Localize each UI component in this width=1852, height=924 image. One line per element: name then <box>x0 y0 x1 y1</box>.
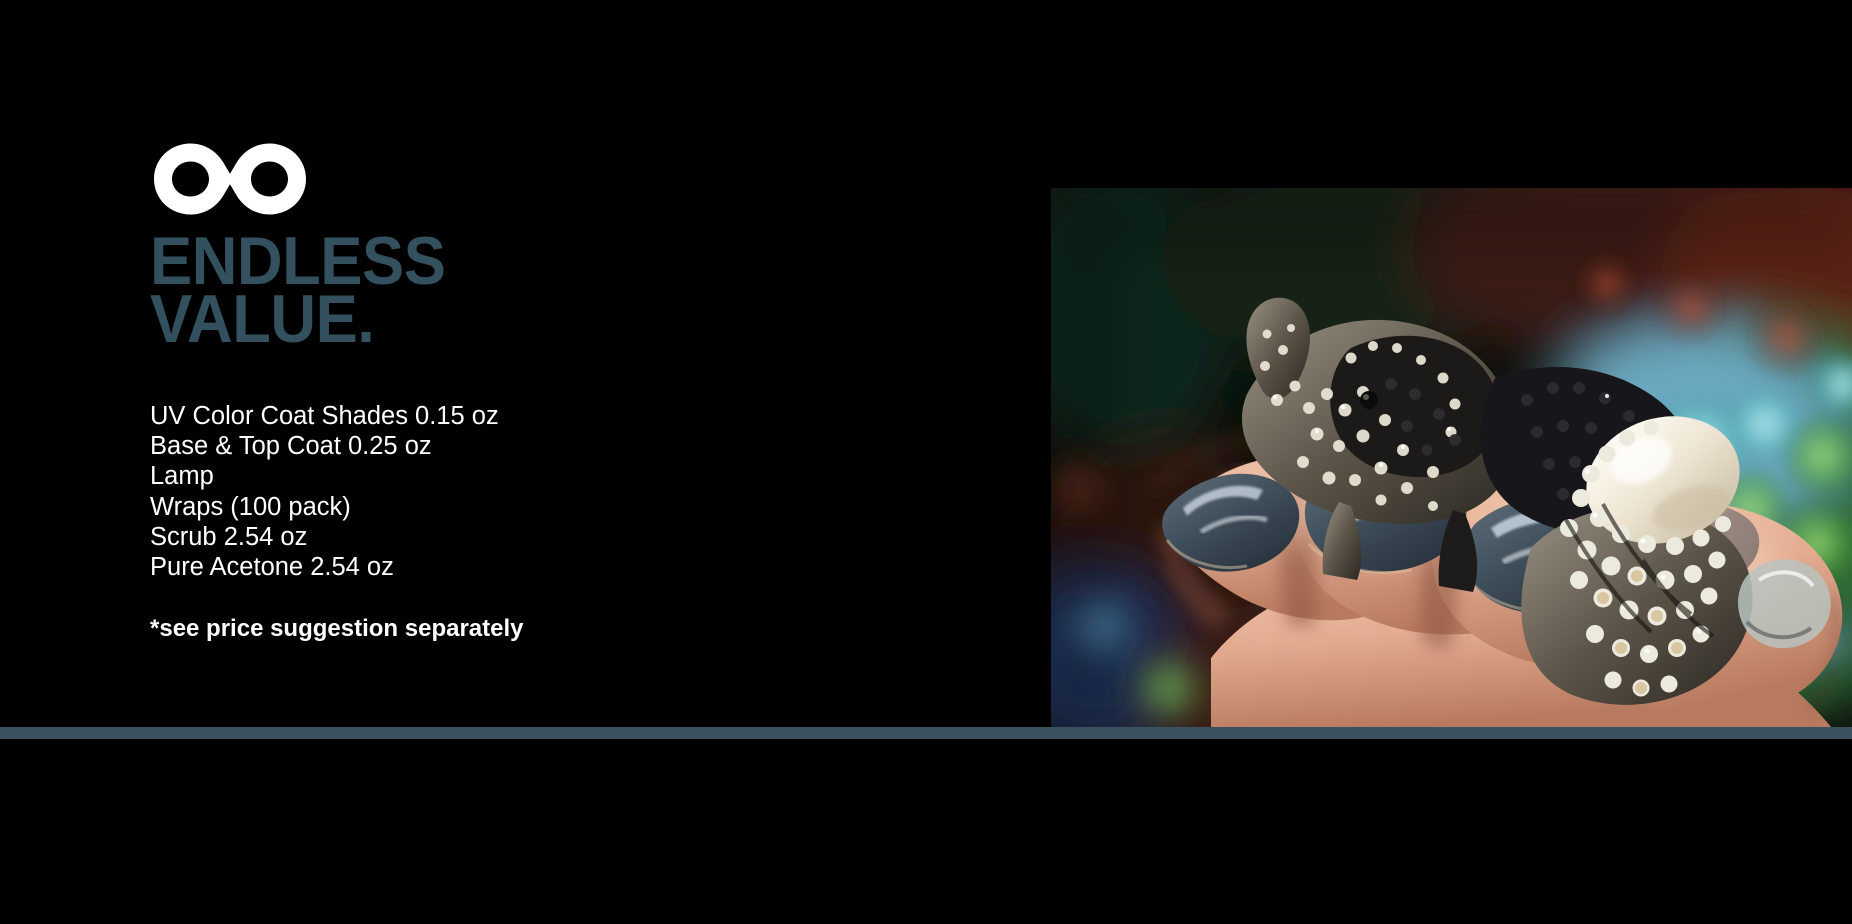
product-photo <box>1051 188 1852 727</box>
content-column: ENDLESS VALUE. UV Color Coat Shades 0.15… <box>150 140 970 643</box>
price-footnote: *see price suggestion separately <box>150 615 970 643</box>
list-item: Wraps (100 pack) <box>150 492 970 522</box>
photo-artwork <box>1051 188 1852 727</box>
list-item: Scrub 2.54 oz <box>150 522 970 552</box>
list-item: Base & Top Coat 0.25 oz <box>150 431 970 461</box>
list-item: Lamp <box>150 461 970 491</box>
list-item: UV Color Coat Shades 0.15 oz <box>150 401 970 431</box>
page-title: ENDLESS VALUE. <box>150 232 913 349</box>
list-item: Pure Acetone 2.54 oz <box>150 552 970 582</box>
infinity-icon <box>150 140 310 218</box>
slide-root: ENDLESS VALUE. UV Color Coat Shades 0.15… <box>0 0 1852 924</box>
accent-bar <box>0 727 1852 739</box>
product-list: UV Color Coat Shades 0.15 oz Base & Top … <box>150 401 970 582</box>
